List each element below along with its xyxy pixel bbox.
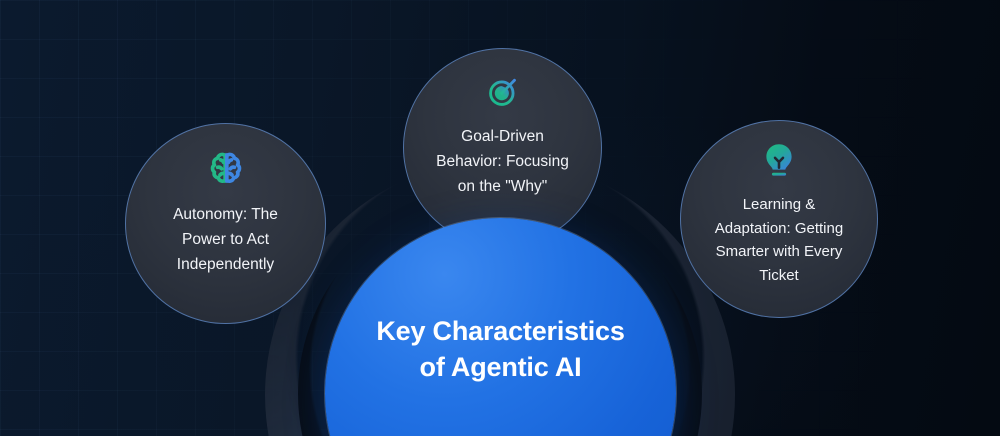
target-goal-icon (484, 73, 522, 111)
node-autonomy-label: Autonomy: The Power to Act Independently (144, 202, 308, 277)
infographic-canvas: Autonomy: The Power to Act Independently (0, 0, 1000, 436)
brain-icon (206, 148, 246, 188)
node-learning-adaptation[interactable]: Learning & Adaptation: Getting Smarter w… (680, 120, 878, 318)
hub-circle[interactable]: Key Characteristics of Agentic AI (325, 218, 676, 436)
node-goal-driven-label: Goal-Driven Behavior: Focusing on the "W… (417, 124, 589, 199)
node-autonomy[interactable]: Autonomy: The Power to Act Independently (125, 123, 326, 324)
node-learning-adaptation-label: Learning & Adaptation: Getting Smarter w… (691, 193, 867, 288)
lightbulb-icon (760, 141, 798, 183)
hub-title: Key Characteristics of Agentic AI (351, 314, 651, 385)
